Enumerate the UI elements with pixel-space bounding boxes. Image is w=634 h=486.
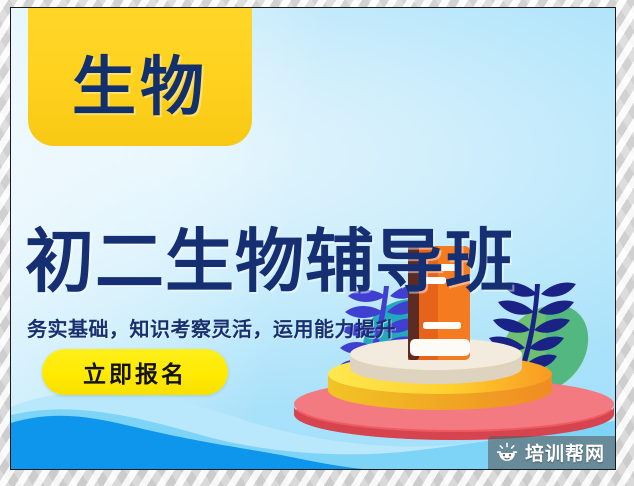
book-label-3 [423,322,461,329]
enroll-now-label: 立即报名 [83,355,187,389]
subject-badge: 生物 [28,7,252,146]
subject-badge-label: 生物 [72,56,208,146]
enroll-now-button[interactable]: 立即报名 [42,349,228,395]
book-pages [410,339,470,356]
image-frame: 生物 初二生物辅导班 务实基础，知识考察灵活，运用能力提升 立即报名 [0,0,634,486]
course-poster: 生物 初二生物辅导班 务实基础，知识考察灵活，运用能力提升 立即报名 [10,7,616,470]
page-title: 初二生物辅导班 [25,226,605,299]
watermark-label: 培训帮网 [525,439,605,466]
site-watermark: 培训帮网 [488,436,615,469]
sun-face-eye-right [509,454,511,456]
sun-face-icon [496,442,518,464]
subtitle-text: 务实基础，知识考察灵活，运用能力提升 [27,313,396,342]
sun-face-eye-left [503,454,505,456]
sun-face-body [499,453,515,461]
